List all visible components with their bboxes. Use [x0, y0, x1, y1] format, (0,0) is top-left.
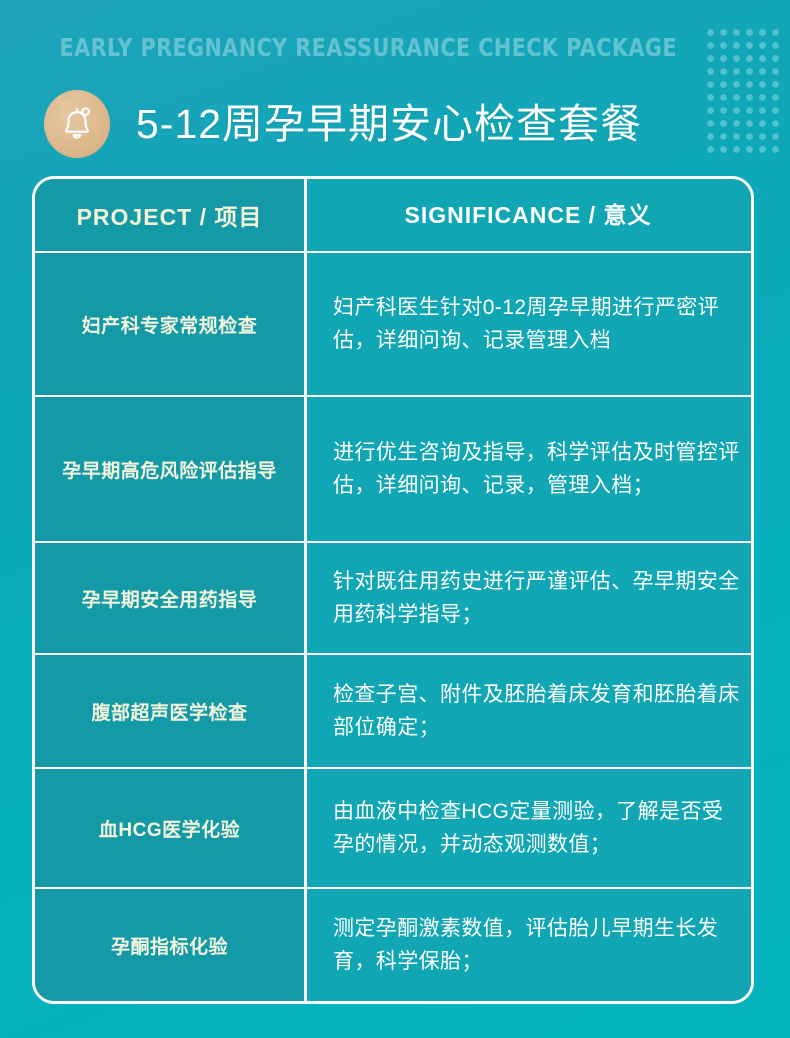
- row-significance-text: 针对既往用药史进行严谨评估、孕早期安全用药科学指导；: [307, 543, 751, 653]
- watermark-headline: EARLY PREGNANCY REASSURANCE CHECK PACKAG…: [60, 35, 641, 60]
- row-project-name: 孕酮指标化验: [35, 889, 307, 1001]
- table-row: 腹部超声医学检查 检查子宫、附件及胚胎着床发育和胚胎着床部位确定；: [35, 655, 751, 769]
- page-header: 5-12周孕早期安心检查套餐: [44, 88, 642, 160]
- row-project-name: 孕早期安全用药指导: [35, 543, 307, 653]
- table-row: 孕早期高危风险评估指导 进行优生咨询及指导，科学评估及时管控评估，详细问询、记录…: [35, 397, 751, 543]
- column-header-significance: SIGNIFICANCE / 意义: [307, 179, 751, 251]
- row-significance-text: 进行优生咨询及指导，科学评估及时管控评估，详细问询、记录，管理入档；: [307, 397, 751, 541]
- package-table: PROJECT / 项目 SIGNIFICANCE / 意义 妇产科专家常规检查…: [32, 176, 754, 1004]
- column-header-project: PROJECT / 项目: [35, 179, 307, 251]
- table-row: 孕早期安全用药指导 针对既往用药史进行严谨评估、孕早期安全用药科学指导；: [35, 543, 751, 655]
- table-row: 血HCG医学化验 由血液中检查HCG定量测验，了解是否受孕的情况，并动态观测数值…: [35, 769, 751, 889]
- dot-grid-decoration: [707, 29, 785, 154]
- promo-page: EARLY PREGNANCY REASSURANCE CHECK PACKAG…: [0, 0, 790, 1038]
- row-significance-text: 测定孕酮激素数值，评估胎儿早期生长发育，科学保胎；: [307, 889, 751, 1001]
- bell-icon: [44, 90, 110, 158]
- table-row: 孕酮指标化验 测定孕酮激素数值，评估胎儿早期生长发育，科学保胎；: [35, 889, 751, 1001]
- table-row: 妇产科专家常规检查 妇产科医生针对0-12周孕早期进行严密评估，详细问询、记录管…: [35, 253, 751, 397]
- row-project-name: 血HCG医学化验: [35, 769, 307, 887]
- table-header-row: PROJECT / 项目 SIGNIFICANCE / 意义: [35, 179, 751, 253]
- row-project-name: 妇产科专家常规检查: [35, 253, 307, 395]
- row-significance-text: 检查子宫、附件及胚胎着床发育和胚胎着床部位确定；: [307, 655, 751, 767]
- page-title: 5-12周孕早期安心检查套餐: [136, 104, 642, 145]
- row-significance-text: 妇产科医生针对0-12周孕早期进行严密评估，详细问询、记录管理入档: [307, 253, 751, 395]
- row-significance-text: 由血液中检查HCG定量测验，了解是否受孕的情况，并动态观测数值；: [307, 769, 751, 887]
- row-project-name: 腹部超声医学检查: [35, 655, 307, 767]
- row-project-name: 孕早期高危风险评估指导: [35, 397, 307, 541]
